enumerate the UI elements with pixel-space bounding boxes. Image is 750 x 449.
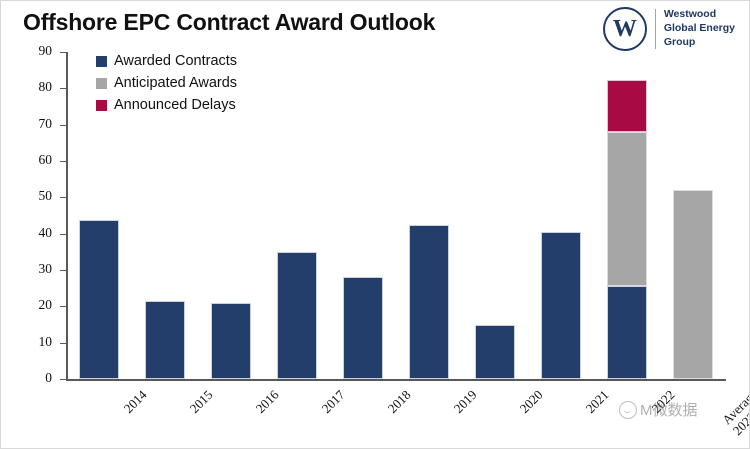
bar-column <box>343 52 383 379</box>
y-tick-mark <box>60 343 66 344</box>
legend-swatch-awarded-contracts <box>96 56 107 67</box>
y-tick-label: 20 <box>22 297 52 313</box>
y-tick-label: 50 <box>22 188 52 204</box>
x-tick-label: 2021 <box>583 387 613 417</box>
bar-segment-awarded-contracts <box>475 325 515 379</box>
bar-segment-anticipated-awards <box>673 190 713 379</box>
y-tick-mark <box>60 306 66 307</box>
bar-segment-awarded-contracts <box>277 252 317 379</box>
x-tick-label: 2018 <box>385 387 415 417</box>
y-tick-mark <box>60 52 66 53</box>
y-tick-mark <box>60 197 66 198</box>
y-tick-label: 70 <box>22 116 52 132</box>
y-tick-mark <box>60 88 66 89</box>
y-tick-mark <box>60 270 66 271</box>
x-tick-label: 2016 <box>253 387 283 417</box>
y-tick-mark <box>60 234 66 235</box>
x-tick-label: 2014 <box>121 387 151 417</box>
bar-segment-awarded-contracts <box>541 232 581 379</box>
bar-segment-anticipated-awards <box>607 132 647 286</box>
bar-column <box>475 52 515 379</box>
x-tick-label: 2022 <box>649 387 679 417</box>
bar-segment-awarded-contracts <box>343 277 383 379</box>
legend-item: Announced Delays <box>96 97 237 113</box>
bar-column <box>277 52 317 379</box>
y-tick-label: 80 <box>22 79 52 95</box>
x-tick-label: 2015 <box>187 387 217 417</box>
bar-segment-awarded-contracts <box>211 303 251 379</box>
chart-legend: Awarded ContractsAnticipated AwardsAnnou… <box>96 53 237 119</box>
y-tick-label: 10 <box>22 334 52 350</box>
y-tick-label: 60 <box>22 152 52 168</box>
bar-segment-awarded-contracts <box>409 225 449 379</box>
bar-column <box>607 52 647 379</box>
legend-item: Anticipated Awards <box>96 75 237 91</box>
x-tick-label: 2020 <box>517 387 547 417</box>
y-tick-mark <box>60 161 66 162</box>
y-tick-label: 90 <box>22 43 52 59</box>
x-tick-label: 2019 <box>451 387 481 417</box>
x-tick-label: Average2023-26 <box>720 387 750 439</box>
y-tick-label: 0 <box>22 370 52 386</box>
bar-segment-awarded-contracts <box>145 301 185 379</box>
x-axis-line <box>66 379 726 381</box>
bar-segment-awarded-contracts <box>79 220 119 379</box>
y-axis-line <box>66 52 68 379</box>
bar-segment-awarded-contracts <box>607 286 647 379</box>
bar-column <box>673 52 713 379</box>
bar-column <box>541 52 581 379</box>
legend-label: Announced Delays <box>114 97 236 113</box>
legend-item: Awarded Contracts <box>96 53 237 69</box>
y-tick-label: 30 <box>22 261 52 277</box>
legend-swatch-announced-delays <box>96 100 107 111</box>
bar-segment-announced-delays <box>607 80 647 132</box>
legend-label: Anticipated Awards <box>114 75 237 91</box>
y-tick-mark <box>60 125 66 126</box>
y-tick-label: 40 <box>22 225 52 241</box>
bar-column <box>409 52 449 379</box>
x-tick-label: 2017 <box>319 387 349 417</box>
chart-screenshot: Offshore EPC Contract Award Outlook W We… <box>0 0 750 449</box>
legend-label: Awarded Contracts <box>114 53 237 69</box>
y-tick-mark <box>60 379 66 380</box>
legend-swatch-anticipated-awards <box>96 78 107 89</box>
